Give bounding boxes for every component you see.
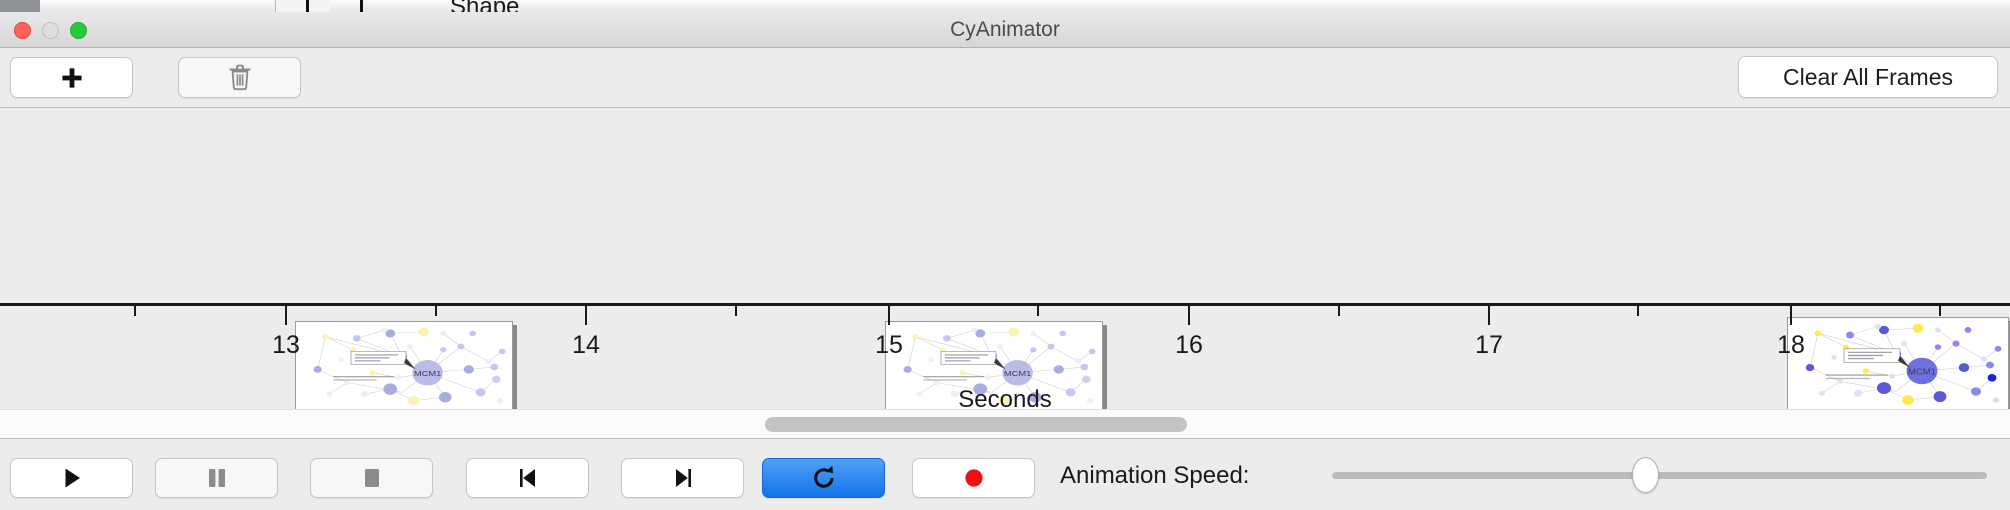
timeline-axis	[0, 303, 2010, 306]
animation-speed-slider[interactable]	[1332, 472, 1987, 479]
clear-all-frames-label: Clear All Frames	[1783, 64, 1953, 91]
svg-text:MCM1: MCM1	[1908, 367, 1936, 376]
pause-button[interactable]	[155, 458, 278, 498]
skip-back-icon	[515, 465, 541, 491]
window-title: CyAnimator	[0, 12, 2010, 48]
transport-bar: Animation Speed:	[0, 440, 2010, 510]
cyanimator-window: Shape CyAnimator Clear	[0, 0, 2010, 510]
timeline-scrollbar-thumb[interactable]	[765, 417, 1187, 432]
timeline-tick-label: 15	[848, 331, 930, 360]
close-button[interactable]	[14, 22, 31, 39]
stop-icon	[360, 465, 384, 491]
background-window-strip: Shape	[0, 0, 2010, 12]
timeline-tick	[1338, 305, 1340, 316]
add-frame-button[interactable]	[10, 57, 133, 98]
timeline-scrollbar[interactable]	[0, 409, 2010, 439]
loop-button[interactable]	[762, 458, 885, 498]
timeline-tick	[1637, 305, 1639, 316]
svg-text:MCM1: MCM1	[414, 369, 442, 378]
record-button[interactable]	[912, 458, 1035, 498]
timeline-tick	[435, 305, 437, 316]
maximize-button[interactable]	[70, 22, 87, 39]
timeline-tick	[1037, 305, 1039, 316]
play-icon	[59, 465, 85, 491]
stop-button[interactable]	[310, 458, 433, 498]
timeline-tick-label: 17	[1448, 331, 1530, 360]
timeline-tick	[735, 305, 737, 316]
timeline-tick	[285, 305, 287, 325]
timeline-tick	[585, 305, 587, 325]
delete-frame-button[interactable]	[178, 57, 301, 98]
title-bar: CyAnimator	[0, 12, 2010, 48]
toolbar: Clear All Frames	[0, 48, 2010, 108]
record-icon	[961, 465, 987, 491]
play-button[interactable]	[10, 458, 133, 498]
loop-icon	[810, 464, 838, 492]
timeline-tick-label: 13	[245, 331, 327, 360]
timeline-tick	[888, 305, 890, 325]
timeline-tick-label: 14	[545, 331, 627, 360]
plus-icon	[59, 65, 85, 91]
background-window-label: Shape	[450, 0, 519, 12]
timeline-tick	[1790, 305, 1792, 325]
timeline-panel[interactable]: MCM1MCM1MCM1 12131415161718 Seconds	[0, 109, 2010, 409]
axis-title: Seconds	[0, 386, 2010, 409]
skip-forward-icon	[670, 465, 696, 491]
timeline-tick	[1488, 305, 1490, 325]
window-controls	[14, 22, 87, 39]
timeline-tick	[134, 305, 136, 316]
timeline-tick	[1188, 305, 1190, 325]
timeline-tick-label: 18	[1750, 331, 1832, 360]
clear-all-frames-button[interactable]: Clear All Frames	[1738, 56, 1998, 98]
pause-icon	[205, 465, 229, 491]
trash-icon	[228, 64, 252, 91]
minimize-button[interactable]	[42, 22, 59, 39]
skip-start-button[interactable]	[466, 458, 589, 498]
timeline-tick-label: 16	[1148, 331, 1230, 360]
animation-speed-slider-thumb[interactable]	[1632, 457, 1659, 493]
timeline-tick	[1939, 305, 1941, 316]
timeline-tick-label: 12	[0, 331, 28, 360]
animation-speed-label: Animation Speed:	[1060, 462, 1249, 490]
skip-end-button[interactable]	[621, 458, 744, 498]
svg-text:MCM1: MCM1	[1004, 369, 1032, 378]
